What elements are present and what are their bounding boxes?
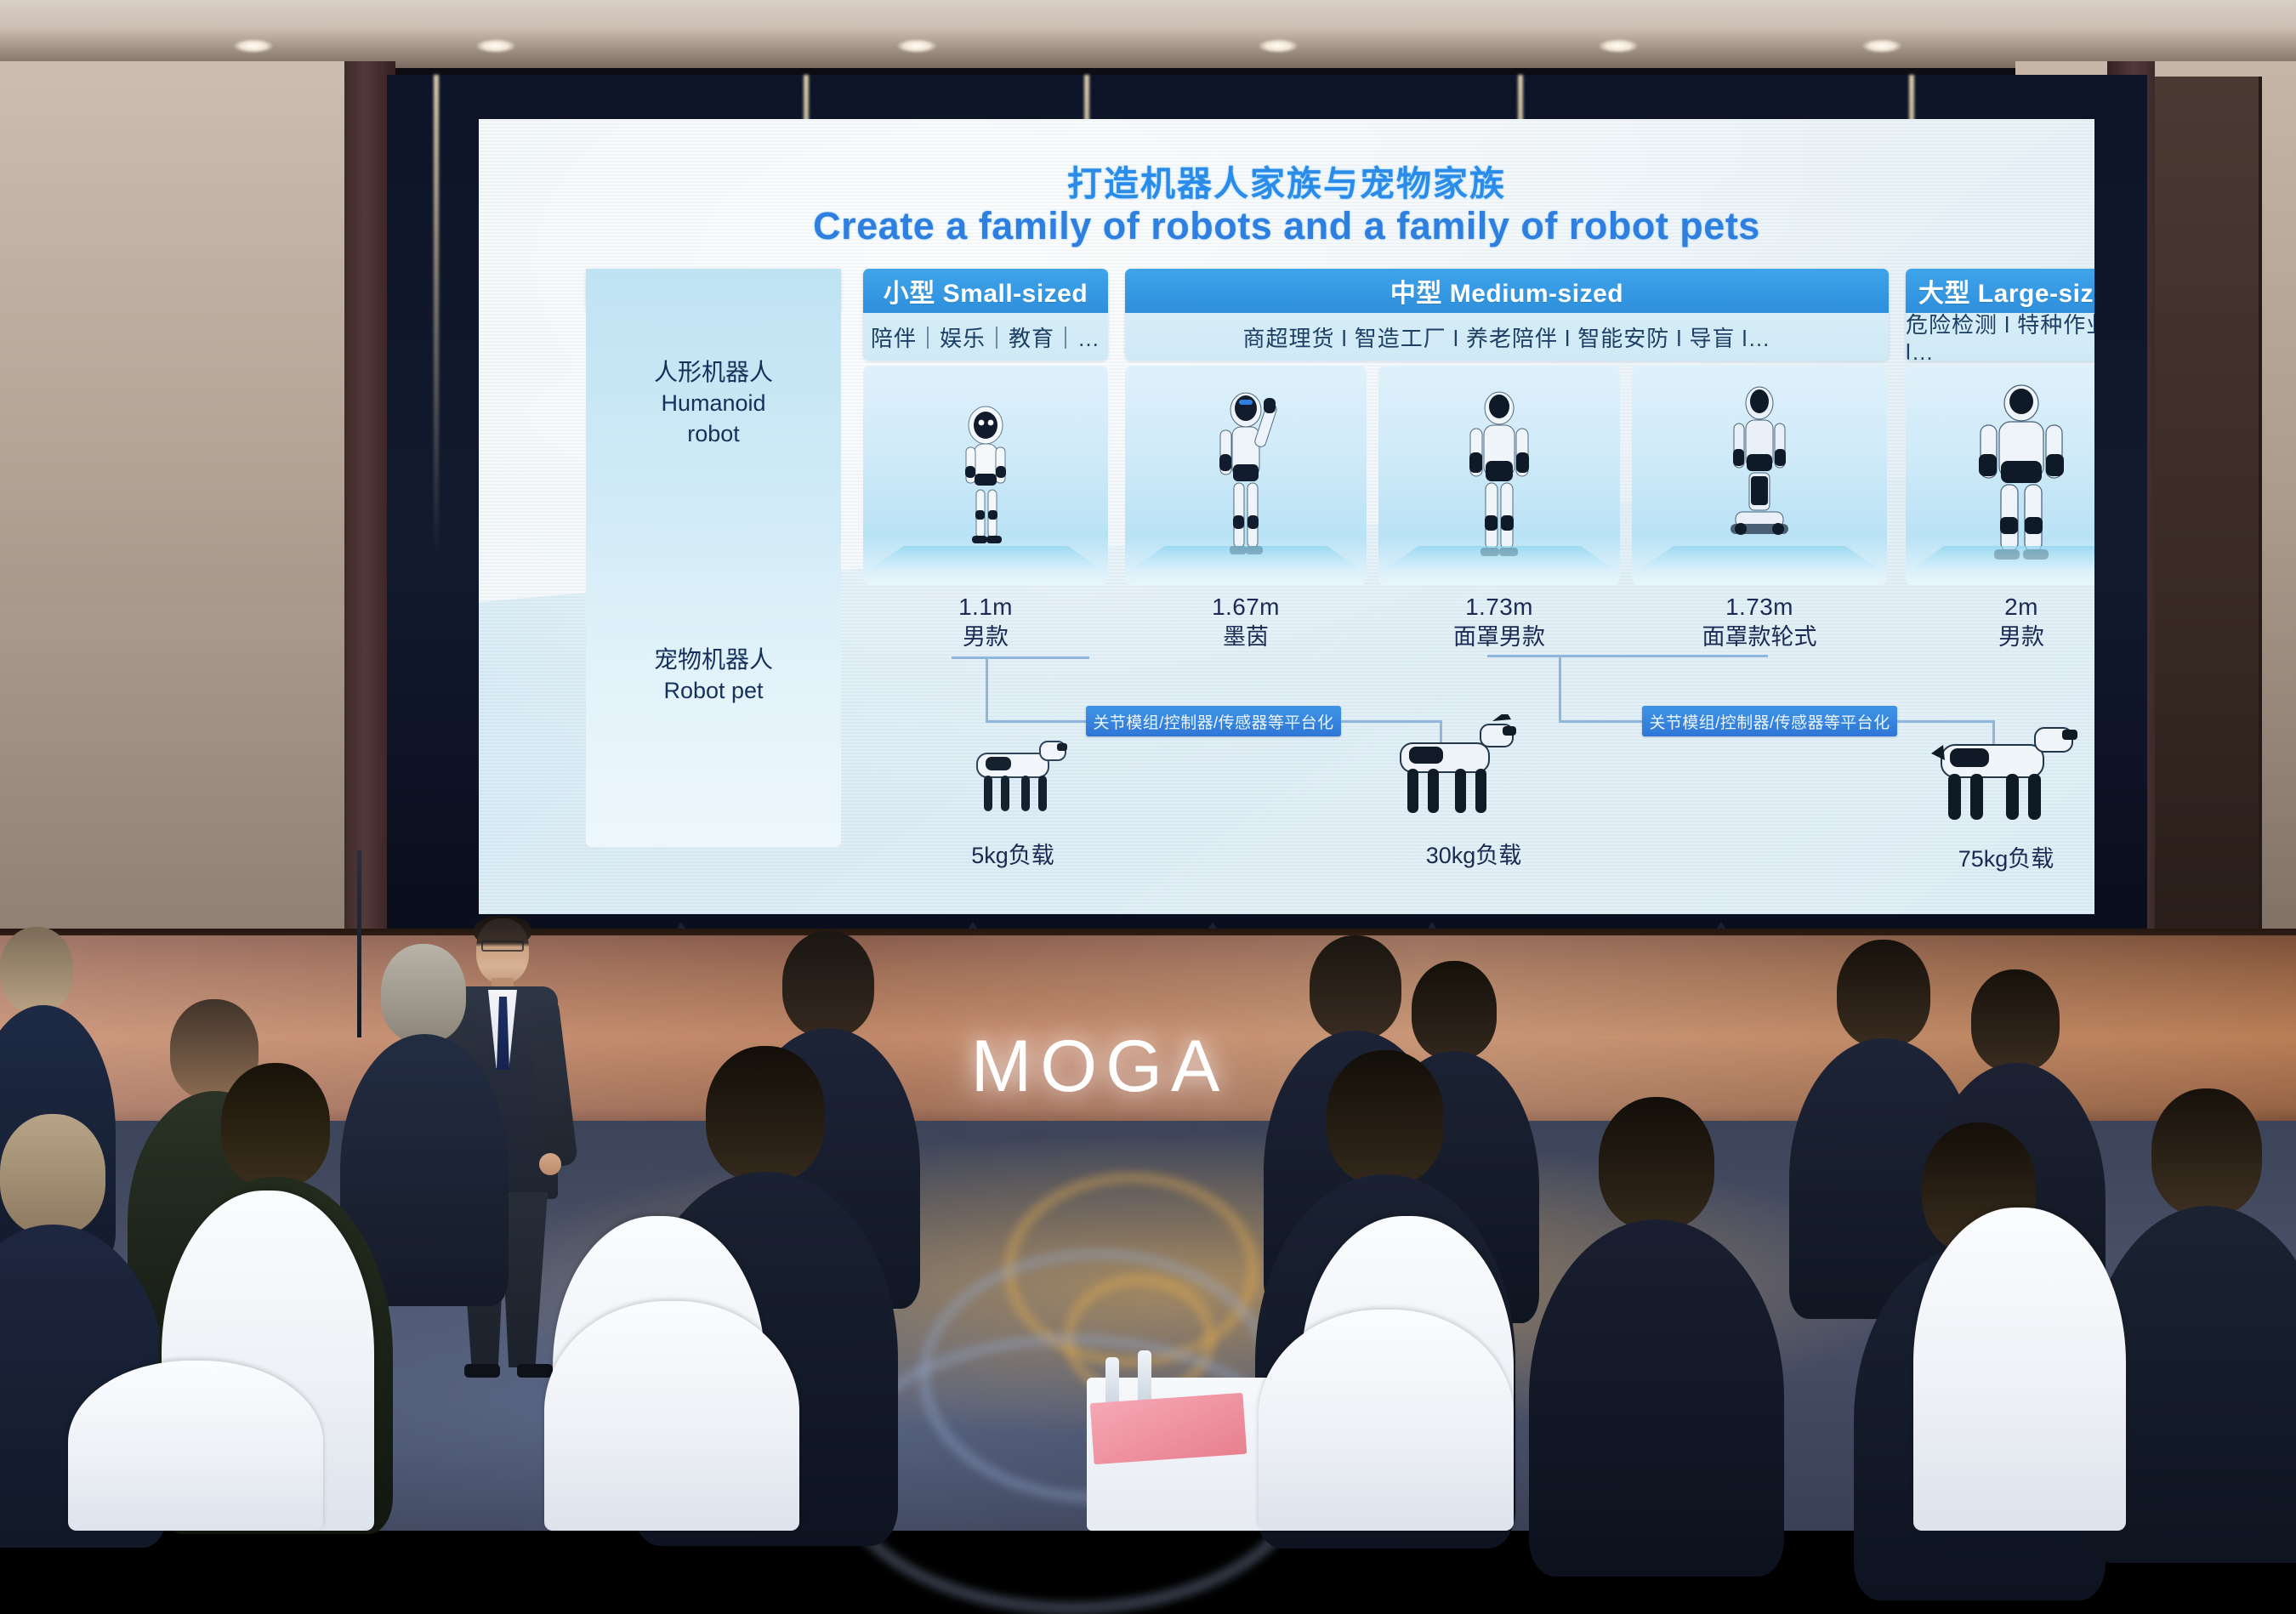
robot-caption-medium-mask-male: 1.73m 面罩男款 <box>1378 592 1620 652</box>
condiment-bottle <box>1105 1357 1119 1405</box>
robot-panel-medium-mask-wheeled <box>1632 366 1887 585</box>
chair <box>1913 1208 2126 1531</box>
robot-panel-medium-mask-male <box>1378 366 1620 585</box>
pet-load-medium: 30kg负载 <box>1338 837 1610 870</box>
platform-bar-right: 关节模组/控制器/传感器等平台化 <box>1642 706 1897 736</box>
product-line-column-body <box>586 269 841 847</box>
chair <box>544 1301 799 1531</box>
column-header-small: 小型 Small-sized 陪伴｜娱乐｜教育｜… <box>863 269 1108 361</box>
ceiling-light <box>1259 39 1298 53</box>
robot-pet-medium-icon <box>1356 714 1543 823</box>
chair <box>68 1361 323 1531</box>
ceiling-light <box>1862 39 1901 53</box>
ceiling-light <box>234 39 273 53</box>
led-screen-bezel: 打造机器人家族与宠物家族 Create a family of robots a… <box>387 75 2147 951</box>
connector-line <box>986 656 988 723</box>
column-header-label: 小型 Small-sized <box>863 269 1108 313</box>
robot-pet-small-icon <box>933 731 1094 825</box>
column-header-large: 大型 Large-sized 危险检测 l 特种作业 l… <box>1906 269 2094 361</box>
robot-panel-small-male <box>863 366 1108 585</box>
column-header-label: 中型 Medium-sized <box>1125 269 1889 313</box>
chair <box>1259 1310 1514 1531</box>
robot-caption-medium-moyin: 1.67m 墨茵 <box>1125 592 1367 652</box>
slide-title-english: Create a family of robots and a family o… <box>479 204 2094 248</box>
condiment-bottle <box>1138 1350 1151 1403</box>
pet-load-small: 5kg负载 <box>877 837 1149 870</box>
connector-line <box>952 656 1089 659</box>
microphone-stand <box>357 850 361 1037</box>
robot-pet-large-icon <box>1901 719 2094 828</box>
row-label-robot-pet: 宠物机器人 Robot pet <box>586 645 841 707</box>
slide-title-chinese: 打造机器人家族与宠物家族 <box>479 155 2094 206</box>
platform-bar-left: 关节模组/控制器/传感器等平台化 <box>1086 706 1341 736</box>
connector-line <box>1559 655 1561 723</box>
connector-line <box>1487 655 1768 657</box>
venue-logo-moga: MOGA <box>921 1020 1278 1112</box>
robot-caption-large-male: 2m 男款 <box>1906 592 2094 652</box>
column-sub-label: 陪伴｜娱乐｜教育｜… <box>863 313 1108 361</box>
presentation-slide: 打造机器人家族与宠物家族 Create a family of robots a… <box>479 119 2094 914</box>
ceiling-light <box>476 39 515 53</box>
robot-panel-large-male <box>1906 366 2094 585</box>
connector-line <box>1559 720 1642 723</box>
column-header-medium: 中型 Medium-sized 商超理货 l 智造工厂 l 养老陪伴 l 智能安… <box>1125 269 1889 361</box>
ceiling <box>0 0 2296 68</box>
eyeglasses <box>481 941 524 952</box>
ceiling-light <box>1599 39 1638 53</box>
column-header-label: 大型 Large-sized <box>1906 269 2094 313</box>
wall-left <box>0 61 357 937</box>
robot-panel-medium-moyin <box>1125 366 1367 585</box>
napkin <box>1090 1393 1247 1464</box>
connector-line <box>986 720 1088 723</box>
conference-hall-scene: 打造机器人家族与宠物家族 Create a family of robots a… <box>0 0 2296 1531</box>
robot-caption-small-male: 1.1m 男款 <box>863 592 1108 652</box>
column-sub-label: 危险检测 l 特种作业 l… <box>1906 313 2094 361</box>
pet-load-large: 75kg负载 <box>1870 840 2094 873</box>
row-label-humanoid: 人形机器人 Humanoid robot <box>586 357 841 449</box>
robot-caption-medium-mask-wheeled: 1.73m 面罩款轮式 <box>1632 592 1887 652</box>
ceiling-light <box>897 39 936 53</box>
column-sub-label: 商超理货 l 智造工厂 l 养老陪伴 l 智能安防 l 导盲 l… <box>1125 313 1889 361</box>
